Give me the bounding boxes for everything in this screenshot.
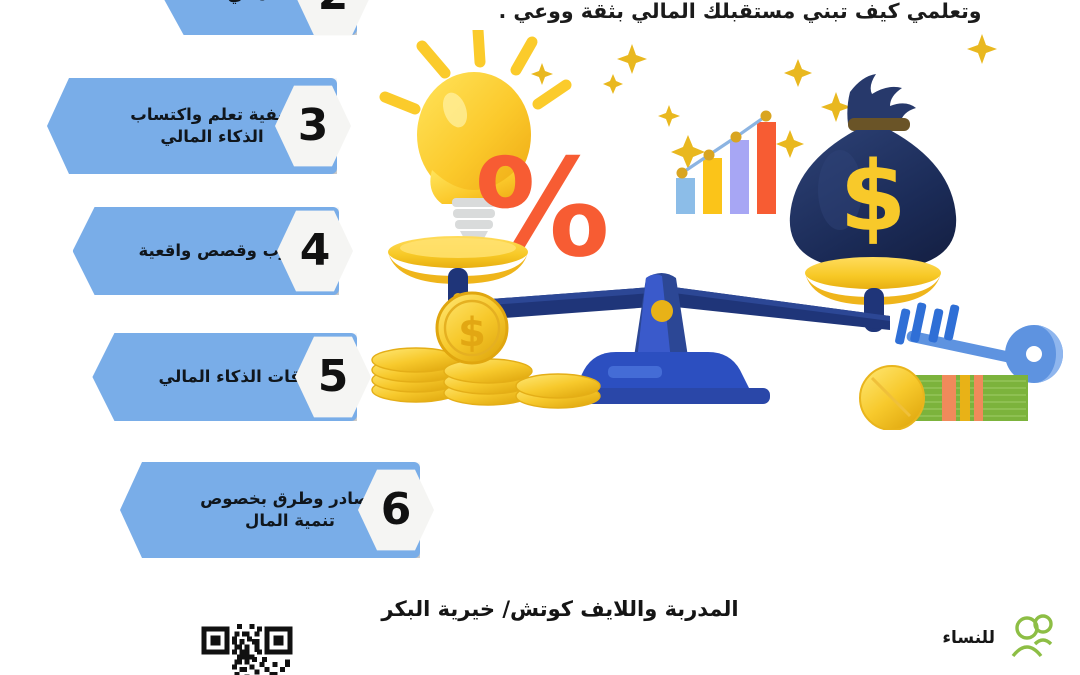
single-coin-icon: [860, 366, 924, 430]
infographic-canvas: وتعلمي كيف تبني مستقبلك المالي بثقة ووعي…: [0, 0, 1080, 675]
step-number: 2: [318, 0, 349, 17]
step-card-5[interactable]: معوقات الذكاء المالي 5: [57, 333, 357, 421]
money-bag-icon: $: [790, 74, 956, 270]
step-number: 4: [300, 229, 331, 273]
step-card-2[interactable]: الذكاء المالي 2: [57, 0, 357, 35]
step-card-4[interactable]: تجارب وقصص واقعية 4: [39, 207, 339, 295]
step-card-6[interactable]: مصادر وطرق بخصوص تنمية المال 6: [120, 462, 420, 558]
banknote-stack-icon: [908, 375, 1028, 421]
step-number: 3: [298, 104, 329, 148]
page-tagline: وتعلمي كيف تبني مستقبلك المالي بثقة ووعي…: [430, 0, 1050, 27]
presenter-name: المدربة واللايف كوتش/ خيرية البكر: [340, 597, 780, 621]
step-number: 6: [381, 488, 412, 532]
steps-list: الذكاء المالي 2 كيفية تعلم واكتساب الذكا…: [0, 0, 370, 600]
bar-chart-icon: [676, 111, 776, 215]
step-number: 5: [318, 355, 349, 399]
money-bag-dollar: $: [840, 141, 907, 253]
people-group-icon: [1005, 611, 1063, 665]
key-icon: [895, 302, 1063, 383]
coin-dollar: $: [458, 310, 486, 356]
step-card-3[interactable]: كيفية تعلم واكتساب الذكاء المالي 3: [47, 78, 337, 174]
brand-logo: للنساء: [888, 607, 1063, 669]
financial-balance-illustration: % $: [370, 30, 1080, 430]
qr-code[interactable]: [152, 619, 342, 675]
brand-label: للنساء: [942, 628, 995, 648]
